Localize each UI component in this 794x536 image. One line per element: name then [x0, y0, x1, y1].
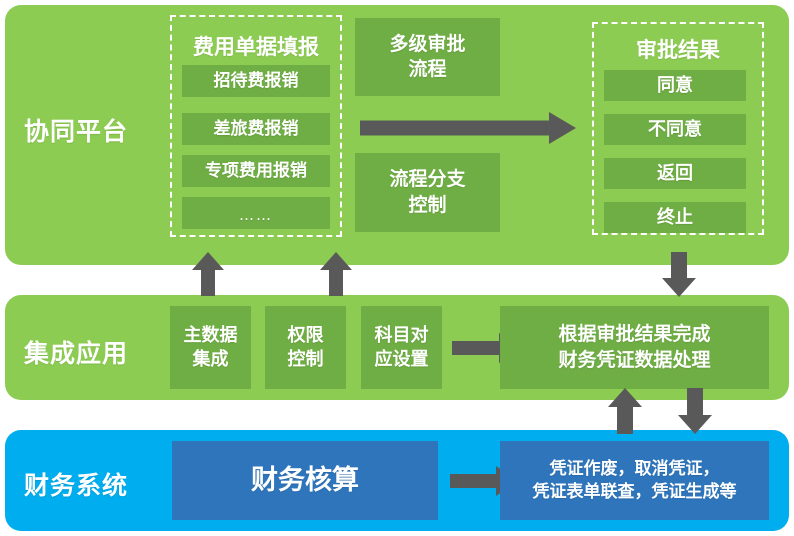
layer-finance-system-title: 财务系统 [24, 466, 174, 502]
expense-item-special[interactable]: 专项费用报销 [182, 155, 330, 187]
result-item-return[interactable]: 返回 [604, 158, 746, 189]
box-subject-mapping-setting[interactable]: 科目对 应设置 [361, 306, 442, 389]
result-item-approve[interactable]: 同意 [604, 70, 746, 101]
expense-item-travel[interactable]: 差旅费报销 [182, 113, 330, 145]
group-expense-form-filling-heading: 费用单据填报 [172, 31, 340, 61]
arrow-result-down-to-integration [662, 252, 696, 297]
box-voucher-operations[interactable]: 凭证作废，取消凭证， 凭证表单联查，凭证生成等 [500, 441, 769, 520]
arrow-voucher-up-to-outcome [608, 388, 642, 434]
layer-collaboration-platform-title: 协同平台 [24, 112, 164, 148]
arrow-master-data-up-to-collaboration [192, 252, 224, 296]
diagram-canvas: 协同平台 费用单据填报 招待费报销 差旅费报销 专项费用报销 …… 多级审批 流… [0, 0, 794, 536]
box-permission-control[interactable]: 权限 控制 [265, 306, 346, 389]
arrow-outcome-down-to-finance [678, 388, 712, 434]
box-financial-accounting[interactable]: 财务核算 [172, 441, 438, 520]
box-multilevel-approval-flow[interactable]: 多级审批 流程 [355, 18, 500, 96]
result-item-terminate[interactable]: 终止 [604, 202, 746, 233]
result-item-reject[interactable]: 不同意 [604, 114, 746, 145]
box-flow-branch-control[interactable]: 流程分支 控制 [355, 153, 500, 232]
box-voucher-data-processing-outcome[interactable]: 根据审批结果完成 财务凭证数据处理 [500, 306, 769, 389]
expense-item-entertainment[interactable]: 招待费报销 [182, 65, 330, 97]
layer-integration-application-title: 集成应用 [24, 334, 164, 370]
expense-item-more[interactable]: …… [182, 197, 330, 229]
group-approval-result-heading: 审批结果 [594, 34, 762, 64]
arrow-approval-flow-to-result [360, 112, 576, 144]
box-master-data-integration[interactable]: 主数据 集成 [170, 306, 251, 389]
arrow-permission-up-to-collaboration [320, 252, 352, 296]
